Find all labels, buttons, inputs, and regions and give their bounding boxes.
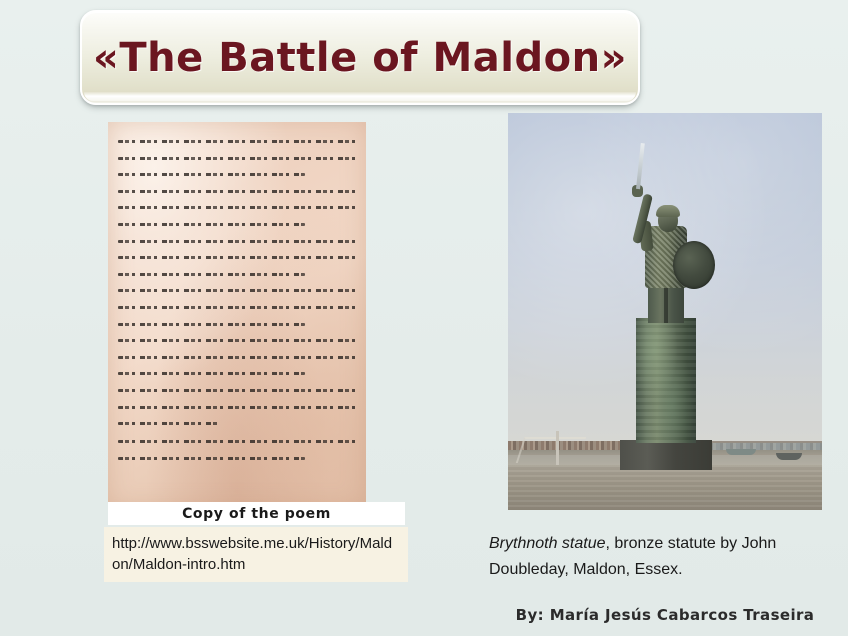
- statue-bronze-column: [636, 318, 696, 443]
- manuscript-line: [118, 190, 358, 193]
- manuscript-line: [118, 372, 305, 375]
- statue-caption: Brythnoth statue, bronze statute by John…: [489, 531, 839, 583]
- manuscript-figure: [108, 122, 366, 509]
- helmet-icon: [656, 205, 680, 217]
- paved-foreground: [508, 465, 822, 510]
- slide-canvas: «The Battle of Maldon»: [0, 0, 848, 636]
- manuscript-source-url[interactable]: http://www.bsswebsite.me.uk/History/Mald…: [112, 533, 400, 575]
- manuscript-text-lines: [118, 140, 358, 499]
- manuscript-line: [118, 289, 358, 292]
- manuscript-line: [118, 240, 358, 243]
- manuscript-line: [118, 256, 358, 259]
- manuscript-line: [118, 389, 358, 392]
- manuscript-line: [118, 157, 358, 160]
- author-byline: By: María Jesús Cabarcos Traseira: [489, 606, 841, 624]
- manuscript-line: [118, 339, 358, 342]
- manuscript-caption-band: Copy of the poem: [108, 502, 405, 525]
- slide-title-box: «The Battle of Maldon»: [80, 10, 640, 105]
- mast-pole: [556, 431, 559, 465]
- statue-caption-title: Brythnoth statue: [489, 535, 606, 552]
- distant-boat: [776, 453, 802, 460]
- manuscript-line: [118, 323, 305, 326]
- statue-stone-base: [620, 440, 712, 470]
- manuscript-line: [118, 406, 358, 409]
- manuscript-image: [108, 122, 366, 509]
- manuscript-line: [118, 140, 358, 143]
- manuscript-line: [118, 173, 305, 176]
- distant-boat: [726, 449, 756, 455]
- manuscript-caption-text: Copy of the poem: [182, 506, 331, 522]
- manuscript-line: [118, 306, 358, 309]
- manuscript-line: [118, 356, 358, 359]
- manuscript-source-box: http://www.bsswebsite.me.uk/History/Mald…: [104, 527, 408, 582]
- statue-legs: [648, 283, 684, 323]
- manuscript-line: [118, 223, 305, 226]
- manuscript-line: [118, 273, 305, 276]
- railing: [516, 437, 586, 463]
- manuscript-line: [118, 206, 358, 209]
- shield-icon: [673, 241, 715, 289]
- statue-figure: [508, 113, 822, 510]
- manuscript-line: [118, 457, 305, 460]
- manuscript-line: [118, 440, 358, 443]
- manuscript-line: [118, 422, 219, 425]
- page-title: «The Battle of Maldon»: [93, 35, 627, 81]
